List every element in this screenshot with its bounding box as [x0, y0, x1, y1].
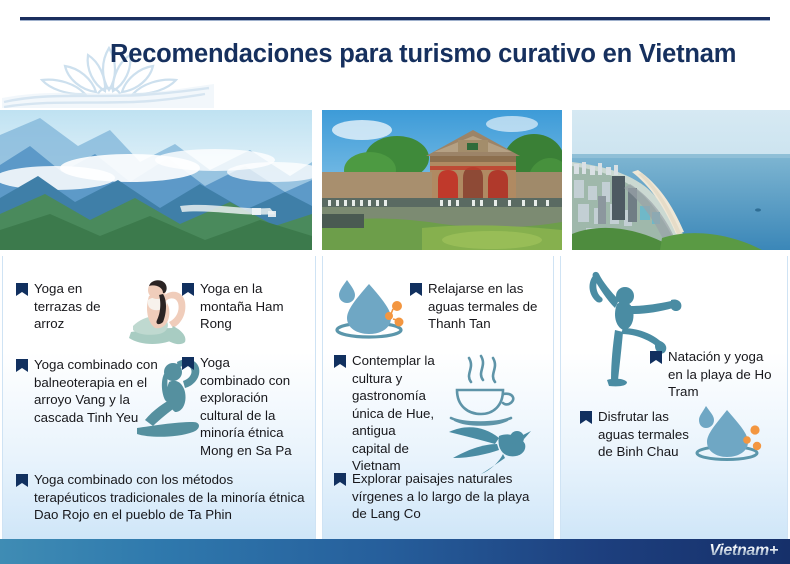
photo-hue-imperial-gate — [322, 110, 562, 250]
bookmark-icon — [333, 472, 347, 487]
bookmark-icon — [579, 410, 593, 425]
header-rule — [20, 17, 770, 21]
column-panel-lao-cai: Yoga en terrazas de arroz Yoga en la mon… — [2, 256, 316, 540]
photo-vung-tau-coast — [572, 110, 790, 250]
bookmark-icon — [181, 356, 195, 371]
column-panel-thua-thien-hue: Relajarse en las aguas termales de Thanh… — [322, 256, 554, 540]
bookmark-icon — [15, 282, 29, 297]
list-item: Yoga en terrazas de arroz — [15, 280, 117, 333]
vietnamplus-logo: Vietnam+ — [709, 542, 778, 560]
list-item: Yoga combinado con los métodos terapéuti… — [15, 471, 305, 524]
column-panel-ba-ria-vung-tau: Natación y yoga en la playa de Ho Tram D… — [560, 256, 788, 540]
page-title: Recomendaciones para turismo curativo en… — [110, 40, 780, 69]
list-item-text: Yoga en la montaña Ham Rong — [200, 280, 305, 333]
bookmark-icon — [333, 354, 347, 369]
list-item: Contemplar la cultura y gastronomía únic… — [333, 352, 437, 475]
bookmark-icon — [181, 282, 195, 297]
photo-lao-cai-mountains — [0, 110, 312, 250]
bookmark-icon — [15, 473, 29, 488]
bookmark-icon — [649, 350, 663, 365]
list-item-text: Yoga en terrazas de arroz — [34, 280, 117, 333]
list-item: Natación y yoga en la playa de Ho Tram — [649, 348, 777, 401]
list-item: Yoga combinado con balneoterapia en el a… — [15, 356, 163, 426]
list-item: Relajarse en las aguas termales de Thanh… — [409, 280, 543, 333]
bookmark-icon — [15, 358, 29, 373]
water-droplet-icon — [691, 400, 767, 464]
water-droplet-icon — [331, 274, 411, 342]
list-item-text: Contemplar la cultura y gastronomía únic… — [352, 352, 437, 475]
list-item: Yoga en la montaña Ham Rong — [181, 280, 305, 333]
list-item: Yoga combinado con exploración cultural … — [181, 354, 297, 459]
hummingbird-icon — [445, 418, 531, 476]
photo-strip — [0, 110, 790, 250]
bookmark-icon — [409, 282, 423, 297]
infographic-page: Recomendaciones para turismo curativo en… — [0, 0, 790, 564]
footer-bar: Vietnam+ — [0, 539, 790, 564]
list-item: Disfrutar las aguas termales de Binh Cha… — [579, 408, 691, 461]
list-item-text: Yoga combinado con exploración cultural … — [200, 354, 297, 459]
list-item-text: Relajarse en las aguas termales de Thanh… — [428, 280, 543, 333]
list-item-text: Explorar paisajes naturales vírgenes a l… — [352, 470, 545, 523]
list-item-text: Yoga combinado con los métodos terapéuti… — [34, 471, 305, 524]
list-item: Explorar paisajes naturales vírgenes a l… — [333, 470, 545, 523]
list-item-text: Natación y yoga en la playa de Ho Tram — [668, 348, 777, 401]
list-item-text: Yoga combinado con balneoterapia en el a… — [34, 356, 163, 426]
list-item-text: Disfrutar las aguas termales de Binh Cha… — [598, 408, 691, 461]
hot-teacup-icon — [441, 354, 525, 428]
